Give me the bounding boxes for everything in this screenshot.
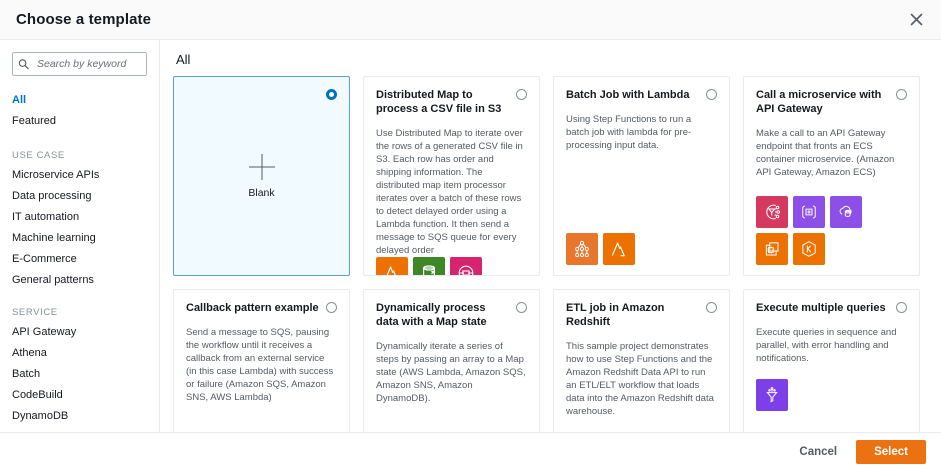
card-description: Send a message to SQS, pausing the workf… (186, 326, 337, 404)
sidebar-item-dynamodb[interactable]: DynamoDB (12, 406, 147, 427)
sidebar-group-use-case: Microservice APIs Data processing IT aut… (12, 165, 147, 291)
card-title-label: Callback pattern example (186, 301, 320, 315)
page-title: Choose a template (16, 11, 151, 28)
radio-button[interactable] (516, 302, 527, 313)
close-icon[interactable] (903, 7, 929, 33)
sidebar-item-all[interactable]: All (12, 90, 147, 111)
radio-button[interactable] (706, 302, 717, 313)
card-head: ETL job in Amazon Redshift (566, 301, 717, 329)
card-service-icons (756, 196, 886, 265)
sidebar-item-batch[interactable]: Batch (12, 364, 147, 385)
amazon-s3-icon (413, 257, 445, 276)
card-head: Call a microservice with API Gateway (756, 88, 907, 116)
card-description: Use Distributed Map to iterate over the … (376, 127, 527, 257)
card-head: Callback pattern example (186, 301, 337, 315)
amazon-eks-icon (793, 233, 825, 265)
card-title-label: Batch Job with Lambda (566, 88, 700, 102)
card-service-icons (376, 257, 506, 276)
sidebar-top-links: All Featured (12, 90, 147, 132)
blank-template-body: Blank (186, 88, 337, 265)
aws-batch-icon (566, 233, 598, 265)
template-card-execute-multiple-queries[interactable]: Execute multiple queries Execute queries… (743, 289, 920, 432)
sidebar-item-data-processing[interactable]: Data processing (12, 186, 147, 207)
sidebar-item-codebuild[interactable]: CodeBuild (12, 385, 147, 406)
amazon-athena-icon (756, 379, 788, 411)
plus-icon (249, 154, 275, 180)
sidebar-item-microservice-apis[interactable]: Microservice APIs (12, 165, 147, 186)
card-head: Batch Job with Lambda (566, 88, 717, 102)
card-description: Dynamically iterate a series of steps by… (376, 340, 527, 405)
card-head: Dynamically process data with a Map stat… (376, 301, 527, 329)
amazon-ecs-icon (756, 233, 788, 265)
amazon-vpc-icon (793, 196, 825, 228)
amazon-sqs-icon (450, 257, 482, 276)
modal-header: Choose a template (0, 0, 941, 40)
card-service-icons (756, 379, 886, 411)
card-description: Make a call to an API Gateway endpoint t… (756, 127, 907, 179)
template-card-api-gateway-microservice[interactable]: Call a microservice with API Gateway Mak… (743, 76, 920, 276)
template-card-callback-pattern[interactable]: Callback pattern example Send a message … (173, 289, 350, 432)
template-card-map-state[interactable]: Dynamically process data with a Map stat… (363, 289, 540, 432)
card-title-label: Execute multiple queries (756, 301, 890, 315)
sidebar-group-title-use-case: USE CASE (12, 150, 147, 161)
cancel-button[interactable]: Cancel (791, 441, 845, 463)
sidebar-item-api-gateway[interactable]: API Gateway (12, 322, 147, 343)
search-input[interactable] (12, 52, 147, 76)
templates-content: All Blank Distributed Map t (160, 40, 941, 432)
template-cards-grid: Blank Distributed Map to process a CSV f… (173, 76, 929, 432)
card-description: This sample project demonstrates how to … (566, 340, 717, 418)
card-title-label: Distributed Map to process a CSV file in… (376, 88, 510, 116)
sidebar-item-featured[interactable]: Featured (12, 111, 147, 132)
radio-button[interactable] (516, 89, 527, 100)
aws-lambda-icon (376, 257, 408, 276)
radio-button[interactable] (326, 302, 337, 313)
template-card-blank[interactable]: Blank (173, 76, 350, 276)
radio-button[interactable] (706, 89, 717, 100)
template-card-etl-redshift[interactable]: ETL job in Amazon Redshift This sample p… (553, 289, 730, 432)
sidebar-item-athena[interactable]: Athena (12, 343, 147, 364)
card-description: Execute queries in sequence and parallel… (756, 326, 907, 365)
sidebar-item-it-automation[interactable]: IT automation (12, 207, 147, 228)
aws-lambda-icon (603, 233, 635, 265)
card-title-label: Blank (248, 187, 274, 199)
filters-sidebar: All Featured USE CASE Microservice APIs … (0, 40, 160, 432)
choose-template-modal: Choose a template All Featured (0, 0, 941, 470)
radio-button[interactable] (896, 302, 907, 313)
card-title-label: ETL job in Amazon Redshift (566, 301, 700, 329)
card-title-label: Dynamically process data with a Map stat… (376, 301, 510, 329)
sidebar-item-e-commerce[interactable]: E-Commerce (12, 249, 147, 270)
sidebar-item-general-patterns[interactable]: General patterns (12, 270, 147, 291)
section-title: All (176, 52, 929, 67)
card-head: Execute multiple queries (756, 301, 907, 315)
modal-body: All Featured USE CASE Microservice APIs … (0, 40, 941, 432)
sidebar-item-machine-learning[interactable]: Machine learning (12, 228, 147, 249)
template-card-batch-job[interactable]: Batch Job with Lambda Using Step Functio… (553, 76, 730, 276)
select-button[interactable]: Select (856, 440, 926, 464)
card-description: Using Step Functions to run a batch job … (566, 113, 717, 152)
card-head: Distributed Map to process a CSV file in… (376, 88, 527, 116)
search-field-wrapper (12, 52, 147, 76)
sidebar-group-title-service: SERVICE (12, 307, 147, 318)
amazon-api-gateway-icon (756, 196, 788, 228)
template-card-distributed-map[interactable]: Distributed Map to process a CSV file in… (363, 76, 540, 276)
card-service-icons (566, 233, 696, 265)
modal-footer: Cancel Select (0, 432, 941, 470)
search-icon (18, 59, 29, 70)
aws-cloud-map-icon (830, 196, 862, 228)
card-title-label: Call a microservice with API Gateway (756, 88, 890, 116)
radio-button[interactable] (896, 89, 907, 100)
sidebar-group-service: API Gateway Athena Batch CodeBuild Dynam… (12, 322, 147, 427)
